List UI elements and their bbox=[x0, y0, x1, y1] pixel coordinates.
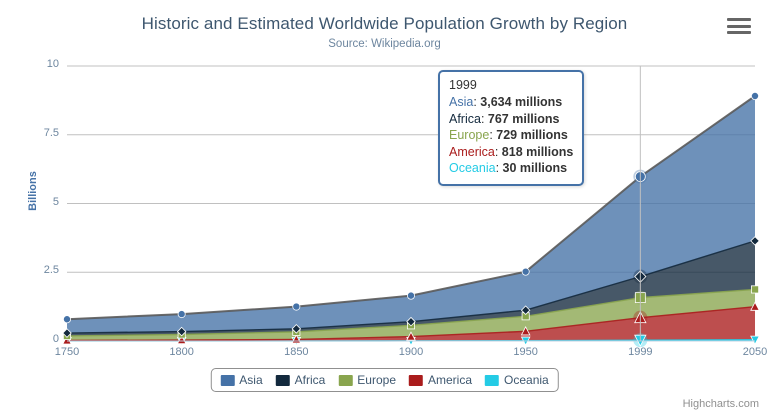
tooltip-series-value: 767 millions bbox=[488, 112, 560, 126]
x-tick-label: 1800 bbox=[152, 346, 212, 358]
x-tick-label: 2050 bbox=[725, 346, 769, 358]
tooltip-row-europe: Europe: 729 millions bbox=[449, 127, 573, 144]
marker-asia-1750[interactable] bbox=[63, 316, 70, 323]
y-tick-label: 7.5 bbox=[19, 127, 59, 139]
tooltip-series-value: 30 millions bbox=[503, 161, 568, 175]
y-tick-label: 2.5 bbox=[19, 264, 59, 276]
x-tick-label: 1950 bbox=[496, 346, 556, 358]
tooltip-separator: : bbox=[496, 161, 503, 175]
marker-asia-1850[interactable] bbox=[293, 303, 300, 310]
legend-label: America bbox=[428, 373, 472, 387]
tooltip-row-oceania: Oceania: 30 millions bbox=[449, 160, 573, 177]
legend-swatch-europe bbox=[338, 375, 352, 386]
marker-asia-1950[interactable] bbox=[522, 268, 529, 275]
x-tick-label: 1999 bbox=[610, 346, 670, 358]
tooltip-separator: : bbox=[481, 112, 488, 126]
legend-label: Asia bbox=[239, 373, 262, 387]
y-tick-label: 5 bbox=[19, 196, 59, 208]
tooltip: 1999 Asia: 3,634 millionsAfrica: 767 mil… bbox=[438, 70, 584, 186]
tooltip-series-value: 818 millions bbox=[502, 145, 574, 159]
legend-label: Africa bbox=[295, 373, 326, 387]
y-tick-label: 10 bbox=[19, 58, 59, 70]
tooltip-header: 1999 bbox=[449, 78, 573, 92]
tooltip-row-africa: Africa: 767 millions bbox=[449, 111, 573, 128]
marker-europe-2050[interactable] bbox=[751, 286, 758, 293]
tooltip-series-value: 729 millions bbox=[496, 128, 568, 142]
x-tick-label: 1750 bbox=[37, 346, 97, 358]
legend: AsiaAfricaEuropeAmericaOceania bbox=[210, 368, 558, 392]
tooltip-series-name: Oceania bbox=[449, 161, 496, 175]
legend-item-america[interactable]: America bbox=[409, 373, 472, 387]
tooltip-series-name: Asia bbox=[449, 95, 473, 109]
x-tick-label: 1900 bbox=[381, 346, 441, 358]
legend-swatch-asia bbox=[220, 375, 234, 386]
tooltip-separator: : bbox=[495, 145, 502, 159]
tooltip-series-name: America bbox=[449, 145, 495, 159]
tooltip-series-name: Africa bbox=[449, 112, 481, 126]
y-tick-label: 0 bbox=[19, 333, 59, 345]
legend-label: Europe bbox=[357, 373, 396, 387]
marker-asia-2050[interactable] bbox=[751, 92, 758, 99]
marker-asia-1800[interactable] bbox=[178, 311, 185, 318]
tooltip-series-value: 3,634 millions bbox=[480, 95, 562, 109]
legend-item-europe[interactable]: Europe bbox=[338, 373, 396, 387]
legend-swatch-america bbox=[409, 375, 423, 386]
legend-label: Oceania bbox=[504, 373, 549, 387]
tooltip-row-asia: Asia: 3,634 millions bbox=[449, 94, 573, 111]
legend-item-africa[interactable]: Africa bbox=[276, 373, 326, 387]
legend-swatch-oceania bbox=[485, 375, 499, 386]
chart-container: Historic and Estimated Worldwide Populat… bbox=[0, 0, 769, 416]
credits-link[interactable]: Highcharts.com bbox=[683, 398, 759, 410]
legend-item-oceania[interactable]: Oceania bbox=[485, 373, 549, 387]
x-tick-label: 1850 bbox=[266, 346, 326, 358]
marker-asia-1900[interactable] bbox=[407, 292, 414, 299]
legend-swatch-africa bbox=[276, 375, 290, 386]
legend-item-asia[interactable]: Asia bbox=[220, 373, 262, 387]
tooltip-series-name: Europe bbox=[449, 128, 489, 142]
tooltip-row-america: America: 818 millions bbox=[449, 144, 573, 161]
